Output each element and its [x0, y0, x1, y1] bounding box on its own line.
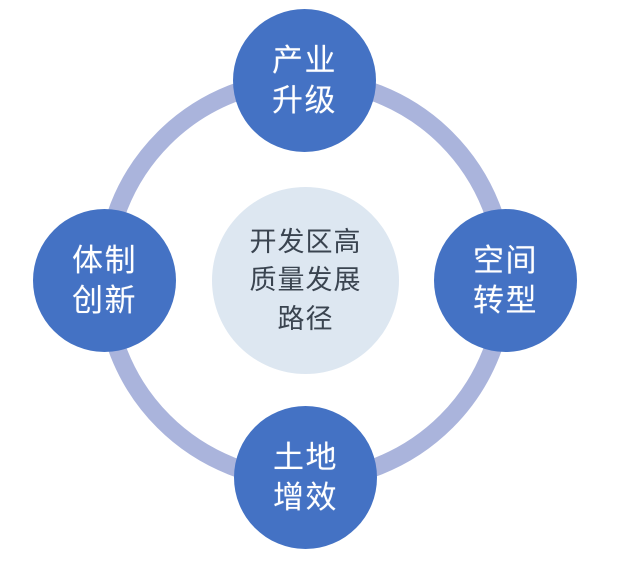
node-institutional-innovation[interactable]: 体制 创新: [33, 209, 176, 352]
node-land-efficiency-line-1: 土地: [273, 438, 338, 478]
center-hub-line-2: 质量发展: [250, 261, 362, 299]
diagram-canvas: 开发区高 质量发展 路径 产业 升级 空间 转型 土地 增效 体制 创新: [0, 0, 628, 578]
node-spatial-transformation-line-1: 空间: [473, 241, 538, 281]
center-hub-node: 开发区高 质量发展 路径: [212, 187, 399, 374]
node-land-efficiency-line-2: 增效: [273, 478, 338, 518]
node-spatial-transformation[interactable]: 空间 转型: [434, 209, 577, 352]
node-industrial-upgrade-line-2: 升级: [272, 81, 337, 121]
center-hub-line-3: 路径: [278, 300, 334, 338]
node-industrial-upgrade-line-1: 产业: [272, 41, 337, 81]
center-hub-line-1: 开发区高: [250, 223, 362, 261]
node-land-efficiency[interactable]: 土地 增效: [234, 406, 377, 549]
node-institutional-innovation-line-2: 创新: [72, 281, 137, 321]
node-industrial-upgrade[interactable]: 产业 升级: [233, 9, 376, 152]
node-institutional-innovation-line-1: 体制: [72, 241, 137, 281]
node-spatial-transformation-line-2: 转型: [473, 281, 538, 321]
